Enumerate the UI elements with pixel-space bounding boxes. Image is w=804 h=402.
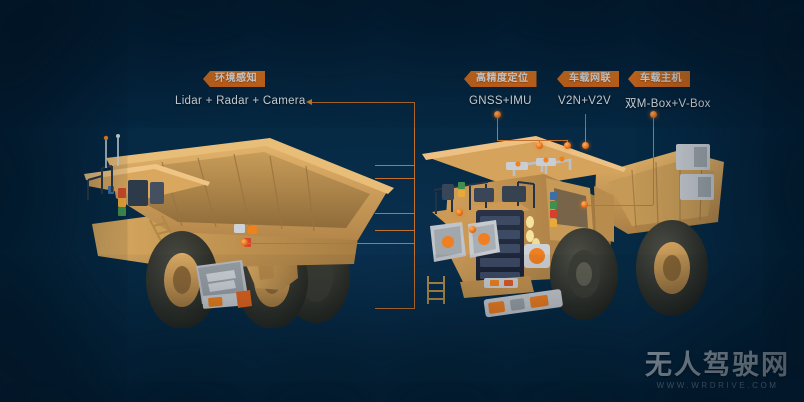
- label-onboard-host: 双M-Box+V-Box: [625, 95, 711, 111]
- connector-mbox-v: [653, 114, 654, 205]
- connector-gnss-h: [497, 140, 567, 141]
- connector-env-v: [414, 102, 415, 309]
- mining-truck-rear-view: [58, 128, 428, 328]
- connector-env-b4: [375, 230, 415, 231]
- sensor-dot-v2x: [582, 142, 589, 149]
- tag-hd-positioning[interactable]: 高精度定位: [464, 71, 537, 87]
- sensor-dot-env-2: [469, 226, 476, 233]
- connector-env-b5: [375, 308, 415, 309]
- connector-env-h1: [312, 102, 415, 103]
- watermark: 无人驾驶网 WWW.WRDRIVE.COM: [645, 350, 790, 390]
- sensor-dot-mbox: [581, 201, 588, 208]
- watermark-url: WWW.WRDRIVE.COM: [645, 381, 790, 390]
- sensor-dot-left-truck: [241, 239, 248, 246]
- sensor-dot-env-1: [456, 209, 463, 216]
- connector-env-b2: [375, 178, 415, 179]
- mining-truck-front-view: [418, 126, 738, 331]
- label-hd-positioning: GNSS+IMU: [469, 95, 532, 107]
- tag-v2x-connectivity[interactable]: 车载网联: [557, 71, 619, 87]
- tag-onboard-host[interactable]: 车载主机: [628, 71, 690, 87]
- connector-mbox-h: [585, 205, 653, 206]
- diagram-canvas: 环境感知 Lidar + Radar + Camera 高精度定位 GNSS+I…: [0, 0, 804, 402]
- sensor-dot-gnss-1: [536, 142, 543, 149]
- label-env-perception: Lidar + Radar + Camera: [175, 95, 306, 107]
- sensor-dot-gnss-2: [564, 142, 571, 149]
- watermark-title: 无人驾驶网: [645, 350, 790, 380]
- sensor-dot-mbox-top: [650, 111, 657, 118]
- label-v2x-connectivity: V2N+V2V: [558, 95, 611, 107]
- connector-env-b3: [375, 213, 415, 214]
- tag-env-perception[interactable]: 环境感知: [203, 71, 265, 87]
- connector-env-to-left-truck: [245, 243, 415, 244]
- sensor-dot-gnss-stem: [494, 111, 501, 118]
- connector-env-b1: [375, 165, 415, 166]
